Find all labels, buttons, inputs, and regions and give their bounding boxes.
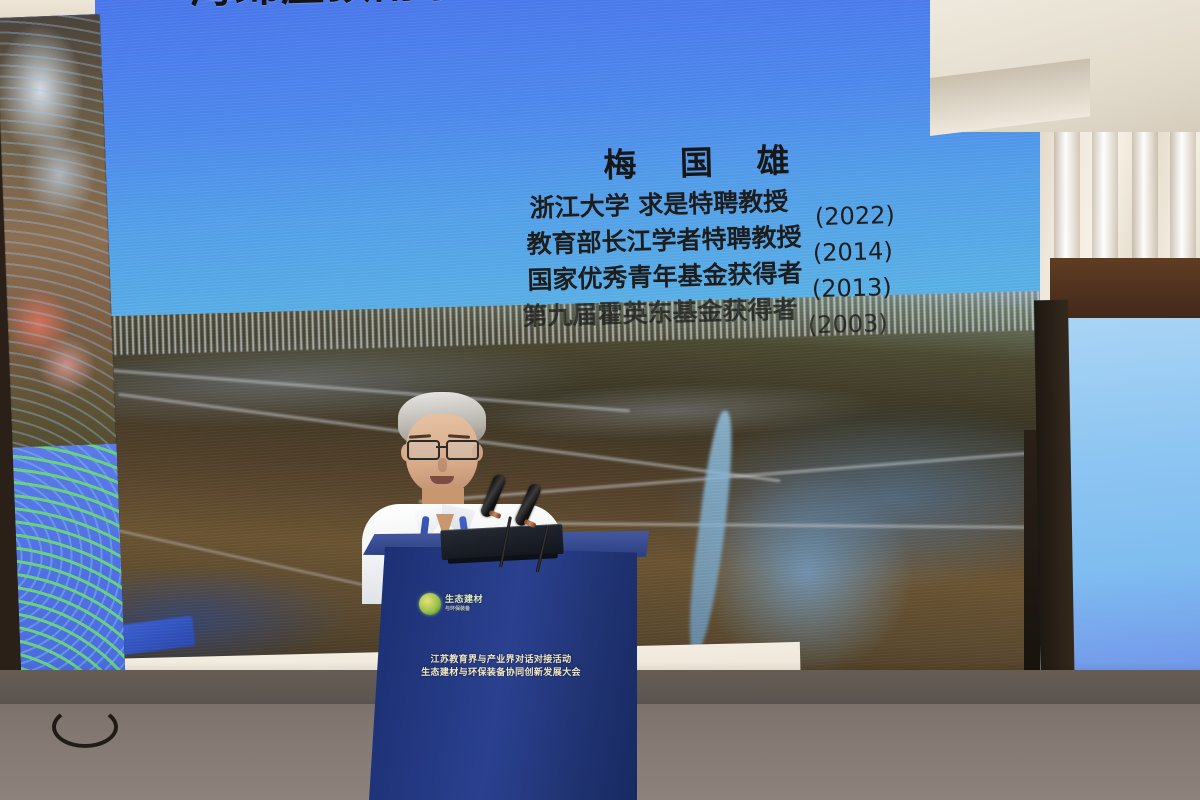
glasses-bridge — [436, 446, 446, 448]
podium: 生态建材 与环保装备 江苏教育界与产业界对话对接活动 生态建材与环保装备协同创新… — [369, 545, 637, 800]
microphone-band — [524, 519, 537, 528]
emblem-text: 生态建材 与环保装备 — [445, 594, 483, 614]
microphone-right[interactable] — [522, 483, 566, 573]
podium-emblem: 生态建材 与环保装备 — [419, 591, 527, 617]
floor-cable — [52, 706, 118, 748]
microphone-band — [489, 510, 502, 519]
podium-event-text: 江苏教育界与产业界对话对接活动 生态建材与环保装备协同创新发展大会 — [391, 653, 611, 679]
nose — [438, 458, 447, 472]
microphone-stem — [499, 516, 512, 568]
credential-year: (2003) — [808, 309, 889, 339]
brown-wall-strip — [1050, 258, 1200, 320]
emblem-main-text: 生态建材 — [445, 594, 483, 604]
podium-line-1: 江苏教育界与产业界对话对接活动 — [391, 653, 611, 666]
glasses-lens-right — [446, 440, 479, 460]
glasses-icon — [407, 440, 477, 457]
conference-photo-scene: 海绵屋顶雨水控制与绿色低碳建筑系统构建 梅 国 雄 浙江大学 求是特聘教授 (2… — [0, 0, 1200, 800]
emblem-circle-icon — [419, 593, 441, 615]
slide-speaker-name: 梅 国 雄 — [603, 133, 806, 186]
glasses-lens-left — [407, 440, 440, 460]
emblem-sub-text: 与环保装备 — [445, 604, 483, 614]
slide-credentials-list: 浙江大学 求是特聘教授 (2022) 教育部长江学者特聘教授 (2014) 国家… — [499, 178, 933, 334]
microphone-stem — [536, 525, 550, 572]
podium-line-2: 生态建材与环保装备协同创新发展大会 — [391, 666, 611, 679]
credential-label: 第九届霍英东基金获得者 — [522, 290, 798, 333]
